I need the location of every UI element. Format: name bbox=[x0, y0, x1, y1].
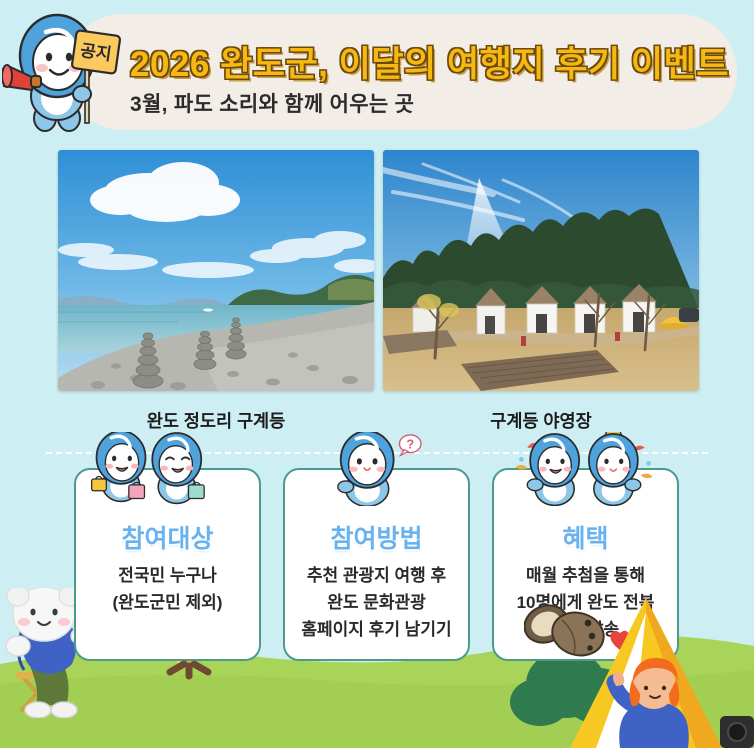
two-mascots-celebrating-icon bbox=[494, 432, 677, 508]
camera-icon bbox=[720, 716, 754, 748]
campsite-decoration bbox=[524, 598, 754, 748]
photo-gugyedeung-campground bbox=[383, 150, 699, 391]
card-heading: 참여대상 bbox=[76, 519, 259, 555]
photo-caption-left: 완도 정도리 구계등 bbox=[58, 408, 374, 433]
card-body: 전국민 누구나 (완도군민 제외) bbox=[80, 562, 255, 616]
two-mascots-shopping-icon bbox=[76, 432, 259, 508]
photo-jeongdori-gugyedeung bbox=[58, 150, 374, 391]
notice-sign: 공지 bbox=[72, 30, 121, 74]
card-body: 추천 관광지 여행 후 완도 문화관광 홈페이지 후기 남기기 bbox=[289, 562, 464, 643]
svg-text:?: ? bbox=[406, 437, 414, 452]
wando-mascot-announcer-icon: 공지 bbox=[2, 8, 122, 133]
mascot-question-icon: ? bbox=[285, 432, 468, 508]
poster-root: 공지 2026 완도군, 이달의 여행지 후기 이벤트 3월, 파도 소리와 함… bbox=[0, 0, 754, 748]
abalone-shell-icon bbox=[524, 599, 609, 661]
poster-title: 2026 완도군, 이달의 여행지 후기 이벤트 bbox=[130, 36, 730, 87]
section-divider bbox=[46, 452, 708, 454]
card-method: ? 참여방법 추천 관광지 여행 후 완도 문화관광 홈페이지 후기 남기기 bbox=[283, 468, 470, 661]
card-heading: 혜택 bbox=[494, 519, 677, 555]
poster-subtitle: 3월, 파도 소리와 함께 어우는 곳 bbox=[130, 88, 730, 118]
card-participants: 참여대상 전국민 누구나 (완도군민 제외) bbox=[74, 468, 261, 661]
card-heading: 참여방법 bbox=[285, 519, 468, 555]
photo-caption-right: 구계등 야영장 bbox=[383, 408, 699, 433]
